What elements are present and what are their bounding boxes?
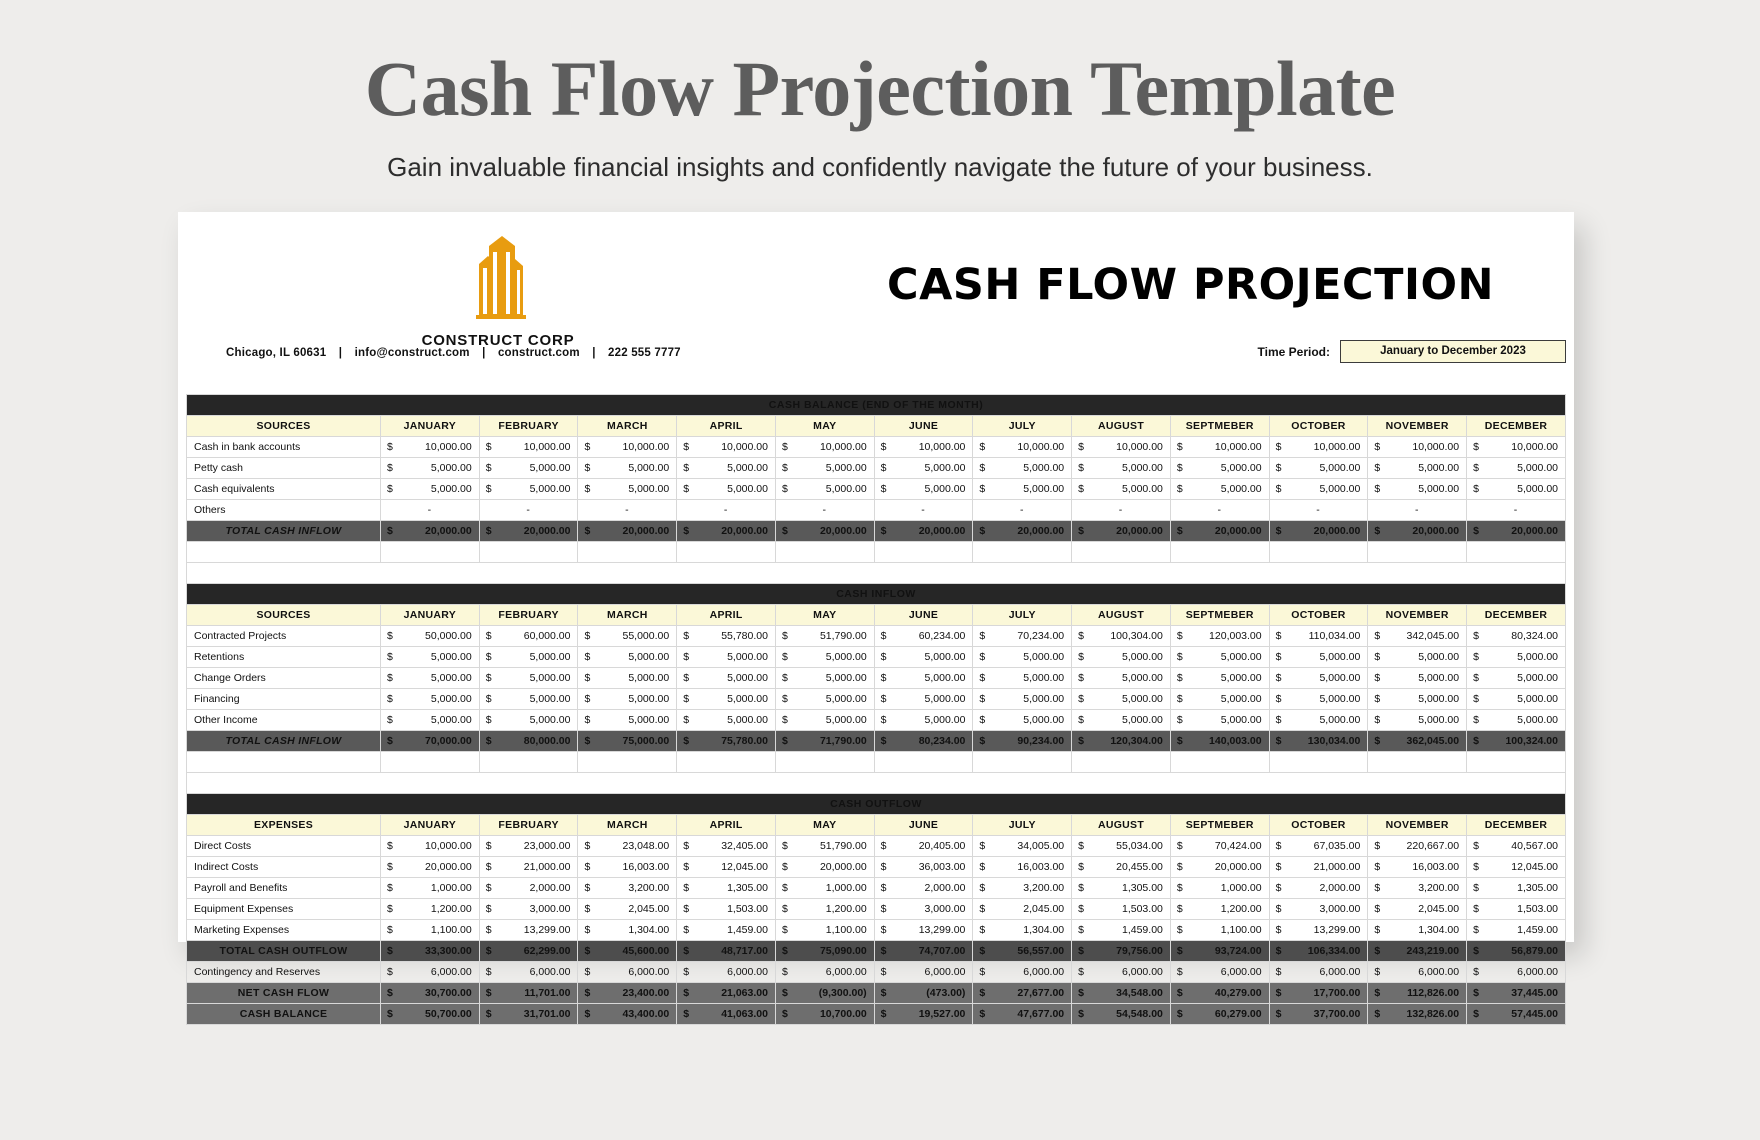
cell-value[interactable]: $5,000.00	[775, 689, 874, 710]
cell-value[interactable]: $5,000.00	[1368, 668, 1467, 689]
cell-value[interactable]: $5,000.00	[1467, 479, 1566, 500]
blank-cell[interactable]	[578, 542, 677, 563]
cell-value[interactable]: $110,034.00	[1269, 626, 1368, 647]
cell-value[interactable]: $5,000.00	[578, 689, 677, 710]
cell-value[interactable]: $21,063.00	[677, 983, 776, 1004]
cell-value[interactable]: $5,000.00	[1170, 479, 1269, 500]
column-header-month-1[interactable]: FEBRUARY	[479, 416, 578, 437]
cell-value[interactable]: -	[677, 500, 776, 521]
cell-value[interactable]: $1,503.00	[1467, 899, 1566, 920]
row-label[interactable]: Marketing Expenses	[187, 920, 381, 941]
cell-value[interactable]: $5,000.00	[578, 710, 677, 731]
cell-value[interactable]: $5,000.00	[381, 710, 480, 731]
cell-value[interactable]: $20,000.00	[775, 521, 874, 542]
cell-value[interactable]: $5,000.00	[677, 710, 776, 731]
column-header-month-0[interactable]: JANUARY	[381, 605, 480, 626]
cell-value[interactable]: $5,000.00	[1368, 479, 1467, 500]
cell-value[interactable]: $10,000.00	[874, 437, 973, 458]
column-header-month-3[interactable]: APRIL	[677, 416, 776, 437]
cell-value[interactable]: $5,000.00	[1269, 479, 1368, 500]
cell-value[interactable]: $40,279.00	[1170, 983, 1269, 1004]
row-label[interactable]: Payroll and Benefits	[187, 878, 381, 899]
column-header-month-3[interactable]: APRIL	[677, 815, 776, 836]
column-header-month-6[interactable]: JULY	[973, 416, 1072, 437]
cell-value[interactable]: $6,000.00	[479, 962, 578, 983]
column-header-month-5[interactable]: JUNE	[874, 605, 973, 626]
cell-value[interactable]: $5,000.00	[677, 458, 776, 479]
blank-cell[interactable]	[381, 542, 480, 563]
cell-value[interactable]: $5,000.00	[1467, 458, 1566, 479]
blank-cell[interactable]	[677, 752, 776, 773]
blank-cell[interactable]	[1467, 752, 1566, 773]
row-label[interactable]: Others	[187, 500, 381, 521]
column-header-month-8[interactable]: SEPTMEBER	[1170, 815, 1269, 836]
row-label[interactable]: Retentions	[187, 647, 381, 668]
cell-value[interactable]: $93,724.00	[1170, 941, 1269, 962]
cell-value[interactable]: $2,045.00	[1368, 899, 1467, 920]
column-header-month-10[interactable]: NOVEMBER	[1368, 416, 1467, 437]
cell-value[interactable]: -	[1269, 500, 1368, 521]
cell-value[interactable]: $6,000.00	[677, 962, 776, 983]
cell-value[interactable]: $5,000.00	[1170, 710, 1269, 731]
cell-value[interactable]: $5,000.00	[677, 479, 776, 500]
column-header-month-2[interactable]: MARCH	[578, 605, 677, 626]
cell-value[interactable]: $120,003.00	[1170, 626, 1269, 647]
cell-value[interactable]: $5,000.00	[1072, 458, 1171, 479]
cell-value[interactable]: $10,000.00	[1467, 437, 1566, 458]
cell-value[interactable]: $90,234.00	[973, 731, 1072, 752]
cell-value[interactable]: $70,234.00	[973, 626, 1072, 647]
cell-value[interactable]: $5,000.00	[1072, 710, 1171, 731]
column-header-month-0[interactable]: JANUARY	[381, 815, 480, 836]
cell-value[interactable]: $5,000.00	[874, 689, 973, 710]
cell-value[interactable]: $5,000.00	[479, 647, 578, 668]
cell-value[interactable]: $5,000.00	[1072, 668, 1171, 689]
blank-cell[interactable]	[1269, 752, 1368, 773]
cell-value[interactable]: $3,000.00	[1269, 899, 1368, 920]
cell-value[interactable]: $34,548.00	[1072, 983, 1171, 1004]
cell-value[interactable]: $20,000.00	[1170, 521, 1269, 542]
cell-value[interactable]: -	[973, 500, 1072, 521]
cell-value[interactable]: $5,000.00	[1368, 689, 1467, 710]
column-header-month-1[interactable]: FEBRUARY	[479, 605, 578, 626]
cell-value[interactable]: $5,000.00	[578, 668, 677, 689]
cell-value[interactable]: $12,045.00	[1467, 857, 1566, 878]
cell-value[interactable]: $32,405.00	[677, 836, 776, 857]
cell-value[interactable]: $5,000.00	[677, 647, 776, 668]
cell-value[interactable]: $20,405.00	[874, 836, 973, 857]
blank-cell[interactable]	[479, 542, 578, 563]
cell-value[interactable]: $5,000.00	[479, 479, 578, 500]
row-label[interactable]: Contingency and Reserves	[187, 962, 381, 983]
column-header-month-4[interactable]: MAY	[775, 815, 874, 836]
cell-value[interactable]: $47,677.00	[973, 1004, 1072, 1025]
cell-value[interactable]: $51,790.00	[775, 836, 874, 857]
cell-value[interactable]: $1,305.00	[1072, 878, 1171, 899]
cell-value[interactable]: $71,790.00	[775, 731, 874, 752]
cell-value[interactable]: $74,707.00	[874, 941, 973, 962]
cell-value[interactable]: $33,300.00	[381, 941, 480, 962]
column-header-month-4[interactable]: MAY	[775, 605, 874, 626]
cell-value[interactable]: $10,000.00	[973, 437, 1072, 458]
cell-value[interactable]: $5,000.00	[775, 458, 874, 479]
cell-value[interactable]: $10,700.00	[775, 1004, 874, 1025]
cell-value[interactable]: $10,000.00	[578, 437, 677, 458]
row-label[interactable]: Financing	[187, 689, 381, 710]
column-header-month-11[interactable]: DECEMBER	[1467, 605, 1566, 626]
cell-value[interactable]: $48,717.00	[677, 941, 776, 962]
cell-value[interactable]: $5,000.00	[1269, 689, 1368, 710]
row-label[interactable]: TOTAL CASH INFLOW	[187, 731, 381, 752]
cell-value[interactable]: $5,000.00	[381, 479, 480, 500]
blank-cell[interactable]	[1269, 542, 1368, 563]
cell-value[interactable]: $6,000.00	[1368, 962, 1467, 983]
cell-value[interactable]: $60,000.00	[479, 626, 578, 647]
cell-value[interactable]: $5,000.00	[973, 689, 1072, 710]
cell-value[interactable]: $16,003.00	[578, 857, 677, 878]
column-header-label[interactable]: SOURCES	[187, 605, 381, 626]
cell-value[interactable]: $37,700.00	[1269, 1004, 1368, 1025]
blank-cell[interactable]	[1368, 542, 1467, 563]
cell-value[interactable]: $100,304.00	[1072, 626, 1171, 647]
cell-value[interactable]: $75,090.00	[775, 941, 874, 962]
cell-value[interactable]: $51,790.00	[775, 626, 874, 647]
cell-value[interactable]: $27,677.00	[973, 983, 1072, 1004]
cell-value[interactable]: $3,200.00	[1368, 878, 1467, 899]
cell-value[interactable]: $55,000.00	[578, 626, 677, 647]
cell-value[interactable]: $23,000.00	[479, 836, 578, 857]
cell-value[interactable]: $6,000.00	[1269, 962, 1368, 983]
cell-value[interactable]: $20,000.00	[1170, 857, 1269, 878]
cell-value[interactable]: $54,548.00	[1072, 1004, 1171, 1025]
cell-value[interactable]: $19,527.00	[874, 1004, 973, 1025]
cell-value[interactable]: $10,000.00	[677, 437, 776, 458]
row-label[interactable]: Equipment Expenses	[187, 899, 381, 920]
column-header-month-2[interactable]: MARCH	[578, 815, 677, 836]
cell-value[interactable]: $2,000.00	[479, 878, 578, 899]
cell-value[interactable]: $20,000.00	[578, 521, 677, 542]
cell-value[interactable]: $13,299.00	[874, 920, 973, 941]
blank-cell[interactable]	[1170, 752, 1269, 773]
cell-value[interactable]: -	[1072, 500, 1171, 521]
cell-value[interactable]: $5,000.00	[1170, 689, 1269, 710]
cell-value[interactable]: $5,000.00	[578, 458, 677, 479]
cell-value[interactable]: $21,000.00	[1269, 857, 1368, 878]
cell-value[interactable]: $(473.00)	[874, 983, 973, 1004]
cell-value[interactable]: $20,000.00	[479, 521, 578, 542]
row-label[interactable]: Cash equivalents	[187, 479, 381, 500]
cell-value[interactable]: -	[578, 500, 677, 521]
cell-value[interactable]: $2,000.00	[1269, 878, 1368, 899]
cell-value[interactable]: $1,100.00	[775, 920, 874, 941]
cell-value[interactable]: $20,000.00	[1269, 521, 1368, 542]
cell-value[interactable]: $23,400.00	[578, 983, 677, 1004]
cell-value[interactable]: $20,000.00	[381, 857, 480, 878]
blank-cell[interactable]	[677, 542, 776, 563]
cell-value[interactable]: $5,000.00	[1170, 668, 1269, 689]
cell-value[interactable]: $10,000.00	[381, 836, 480, 857]
cell-value[interactable]: $6,000.00	[874, 962, 973, 983]
column-header-month-8[interactable]: SEPTMEBER	[1170, 416, 1269, 437]
blank-cell[interactable]	[874, 752, 973, 773]
cell-value[interactable]: $6,000.00	[1072, 962, 1171, 983]
cell-value[interactable]: $1,304.00	[973, 920, 1072, 941]
cell-value[interactable]: $6,000.00	[1467, 962, 1566, 983]
column-header-month-7[interactable]: AUGUST	[1072, 416, 1171, 437]
cell-value[interactable]: $11,701.00	[479, 983, 578, 1004]
cell-value[interactable]: $20,000.00	[1467, 521, 1566, 542]
cell-value[interactable]: -	[1170, 500, 1269, 521]
cell-value[interactable]: $80,324.00	[1467, 626, 1566, 647]
cell-value[interactable]: $50,700.00	[381, 1004, 480, 1025]
row-label[interactable]: Direct Costs	[187, 836, 381, 857]
cell-value[interactable]: $5,000.00	[1072, 479, 1171, 500]
blank-cell[interactable]	[1072, 752, 1171, 773]
cell-value[interactable]: $70,000.00	[381, 731, 480, 752]
cell-value[interactable]: $5,000.00	[775, 668, 874, 689]
cell-value[interactable]: $5,000.00	[1368, 458, 1467, 479]
cell-value[interactable]: -	[1467, 500, 1566, 521]
cell-value[interactable]: $70,424.00	[1170, 836, 1269, 857]
cell-value[interactable]: $62,299.00	[479, 941, 578, 962]
column-header-month-1[interactable]: FEBRUARY	[479, 815, 578, 836]
cell-value[interactable]: $5,000.00	[1467, 689, 1566, 710]
blank-cell[interactable]	[479, 752, 578, 773]
cell-value[interactable]: $56,557.00	[973, 941, 1072, 962]
blank-cell[interactable]	[187, 752, 381, 773]
cell-value[interactable]: $3,200.00	[578, 878, 677, 899]
cell-value[interactable]: $10,000.00	[1368, 437, 1467, 458]
row-label[interactable]: CASH BALANCE	[187, 1004, 381, 1025]
cell-value[interactable]: $1,200.00	[381, 899, 480, 920]
cell-value[interactable]: $5,000.00	[874, 479, 973, 500]
cell-value[interactable]: $5,000.00	[973, 647, 1072, 668]
column-header-month-6[interactable]: JULY	[973, 815, 1072, 836]
blank-cell[interactable]	[973, 752, 1072, 773]
cell-value[interactable]: $5,000.00	[1368, 710, 1467, 731]
cell-value[interactable]: $3,000.00	[874, 899, 973, 920]
column-header-month-6[interactable]: JULY	[973, 605, 1072, 626]
cell-value[interactable]: $5,000.00	[1467, 710, 1566, 731]
blank-cell[interactable]	[381, 752, 480, 773]
cell-value[interactable]: $6,000.00	[381, 962, 480, 983]
cell-value[interactable]: $5,000.00	[973, 458, 1072, 479]
cell-value[interactable]: $5,000.00	[1467, 647, 1566, 668]
row-label[interactable]: Petty cash	[187, 458, 381, 479]
cell-value[interactable]: $5,000.00	[1368, 647, 1467, 668]
cell-value[interactable]: $5,000.00	[1269, 458, 1368, 479]
blank-cell[interactable]	[1467, 542, 1566, 563]
cell-value[interactable]: $6,000.00	[973, 962, 1072, 983]
cell-value[interactable]: $2,000.00	[874, 878, 973, 899]
row-label[interactable]: NET CASH FLOW	[187, 983, 381, 1004]
cell-value[interactable]: $34,005.00	[973, 836, 1072, 857]
cell-value[interactable]: $6,000.00	[775, 962, 874, 983]
cell-value[interactable]: $60,279.00	[1170, 1004, 1269, 1025]
row-label[interactable]: Other Income	[187, 710, 381, 731]
cell-value[interactable]: $1,503.00	[1072, 899, 1171, 920]
cell-value[interactable]: $5,000.00	[874, 458, 973, 479]
cell-value[interactable]: $1,305.00	[677, 878, 776, 899]
cell-value[interactable]: $41,063.00	[677, 1004, 776, 1025]
cell-value[interactable]: $67,035.00	[1269, 836, 1368, 857]
cell-value[interactable]: $3,200.00	[973, 878, 1072, 899]
blank-cell[interactable]	[578, 752, 677, 773]
cell-value[interactable]: $80,234.00	[874, 731, 973, 752]
row-label[interactable]: Cash in bank accounts	[187, 437, 381, 458]
row-label[interactable]: Contracted Projects	[187, 626, 381, 647]
cell-value[interactable]: $5,000.00	[479, 689, 578, 710]
cell-value[interactable]: $5,000.00	[973, 479, 1072, 500]
cell-value[interactable]: $1,304.00	[578, 920, 677, 941]
cell-value[interactable]: $100,324.00	[1467, 731, 1566, 752]
cell-value[interactable]: $5,000.00	[1269, 710, 1368, 731]
cell-value[interactable]: $5,000.00	[874, 647, 973, 668]
cell-value[interactable]: $2,045.00	[578, 899, 677, 920]
cell-value[interactable]: $(9,300.00)	[775, 983, 874, 1004]
cell-value[interactable]: $1,100.00	[1170, 920, 1269, 941]
cell-value[interactable]: $1,000.00	[775, 878, 874, 899]
cell-value[interactable]: $106,334.00	[1269, 941, 1368, 962]
cell-value[interactable]: $5,000.00	[677, 689, 776, 710]
row-label[interactable]: Indirect Costs	[187, 857, 381, 878]
cell-value[interactable]: $112,826.00	[1368, 983, 1467, 1004]
cell-value[interactable]: $5,000.00	[775, 710, 874, 731]
cell-value[interactable]: $10,000.00	[1269, 437, 1368, 458]
cell-value[interactable]: $1,459.00	[677, 920, 776, 941]
time-period-value[interactable]: January to December 2023	[1340, 340, 1566, 363]
column-header-month-11[interactable]: DECEMBER	[1467, 416, 1566, 437]
cell-value[interactable]: $5,000.00	[874, 710, 973, 731]
column-header-label[interactable]: EXPENSES	[187, 815, 381, 836]
column-header-month-10[interactable]: NOVEMBER	[1368, 605, 1467, 626]
cell-value[interactable]: $342,045.00	[1368, 626, 1467, 647]
cell-value[interactable]: $5,000.00	[578, 479, 677, 500]
cell-value[interactable]: $132,826.00	[1368, 1004, 1467, 1025]
column-header-month-5[interactable]: JUNE	[874, 815, 973, 836]
cell-value[interactable]: $5,000.00	[381, 647, 480, 668]
cell-value[interactable]: $23,048.00	[578, 836, 677, 857]
blank-cell[interactable]	[187, 542, 381, 563]
cell-value[interactable]: $10,000.00	[1072, 437, 1171, 458]
cell-value[interactable]: $16,003.00	[973, 857, 1072, 878]
cell-value[interactable]: $75,780.00	[677, 731, 776, 752]
column-header-month-8[interactable]: SEPTMEBER	[1170, 605, 1269, 626]
cell-value[interactable]: $40,567.00	[1467, 836, 1566, 857]
cell-value[interactable]: $243,219.00	[1368, 941, 1467, 962]
cell-value[interactable]: $17,700.00	[1269, 983, 1368, 1004]
cell-value[interactable]: $20,000.00	[1368, 521, 1467, 542]
column-header-month-0[interactable]: JANUARY	[381, 416, 480, 437]
column-header-month-3[interactable]: APRIL	[677, 605, 776, 626]
cell-value[interactable]: $20,000.00	[1072, 521, 1171, 542]
column-header-month-9[interactable]: OCTOBER	[1269, 416, 1368, 437]
cell-value[interactable]: $5,000.00	[1072, 689, 1171, 710]
column-header-month-10[interactable]: NOVEMBER	[1368, 815, 1467, 836]
row-label[interactable]: TOTAL CASH OUTFLOW	[187, 941, 381, 962]
cell-value[interactable]: $5,000.00	[479, 710, 578, 731]
column-header-month-5[interactable]: JUNE	[874, 416, 973, 437]
cell-value[interactable]: -	[874, 500, 973, 521]
cell-value[interactable]: $5,000.00	[973, 710, 1072, 731]
row-label[interactable]: TOTAL CASH INFLOW	[187, 521, 381, 542]
cell-value[interactable]: $57,445.00	[1467, 1004, 1566, 1025]
cell-value[interactable]: $30,700.00	[381, 983, 480, 1004]
cell-value[interactable]: $45,600.00	[578, 941, 677, 962]
cell-value[interactable]: $79,756.00	[1072, 941, 1171, 962]
cell-value[interactable]: $60,234.00	[874, 626, 973, 647]
cell-value[interactable]: $362,045.00	[1368, 731, 1467, 752]
blank-cell[interactable]	[775, 542, 874, 563]
column-header-month-2[interactable]: MARCH	[578, 416, 677, 437]
cell-value[interactable]: $10,000.00	[775, 437, 874, 458]
cell-value[interactable]: $1,459.00	[1467, 920, 1566, 941]
cell-value[interactable]: $6,000.00	[578, 962, 677, 983]
cell-value[interactable]: $5,000.00	[381, 458, 480, 479]
cell-value[interactable]: $5,000.00	[677, 668, 776, 689]
cell-value[interactable]: $1,459.00	[1072, 920, 1171, 941]
cell-value[interactable]: -	[381, 500, 480, 521]
column-header-label[interactable]: SOURCES	[187, 416, 381, 437]
cell-value[interactable]: $2,045.00	[973, 899, 1072, 920]
cell-value[interactable]: $140,003.00	[1170, 731, 1269, 752]
cell-value[interactable]: $5,000.00	[1269, 668, 1368, 689]
cell-value[interactable]: -	[1368, 500, 1467, 521]
cell-value[interactable]: $1,200.00	[1170, 899, 1269, 920]
cell-value[interactable]: $13,299.00	[1269, 920, 1368, 941]
cell-value[interactable]: $220,667.00	[1368, 836, 1467, 857]
cell-value[interactable]: $5,000.00	[381, 668, 480, 689]
blank-cell[interactable]	[1170, 542, 1269, 563]
cell-value[interactable]: $1,000.00	[381, 878, 480, 899]
column-header-month-7[interactable]: AUGUST	[1072, 605, 1171, 626]
cell-value[interactable]: $130,034.00	[1269, 731, 1368, 752]
cell-value[interactable]: $5,000.00	[381, 689, 480, 710]
cell-value[interactable]: $20,455.00	[1072, 857, 1171, 878]
cell-value[interactable]: $5,000.00	[1170, 647, 1269, 668]
cell-value[interactable]: $10,000.00	[479, 437, 578, 458]
cell-value[interactable]: $12,045.00	[677, 857, 776, 878]
cell-value[interactable]: $20,000.00	[381, 521, 480, 542]
cell-value[interactable]: $20,000.00	[775, 857, 874, 878]
cell-value[interactable]: $1,100.00	[381, 920, 480, 941]
cell-value[interactable]: $55,780.00	[677, 626, 776, 647]
cell-value[interactable]: $43,400.00	[578, 1004, 677, 1025]
cell-value[interactable]: $36,003.00	[874, 857, 973, 878]
cell-value[interactable]: $1,304.00	[1368, 920, 1467, 941]
cell-value[interactable]: $10,000.00	[381, 437, 480, 458]
cell-value[interactable]: $50,000.00	[381, 626, 480, 647]
column-header-month-7[interactable]: AUGUST	[1072, 815, 1171, 836]
cell-value[interactable]: $1,000.00	[1170, 878, 1269, 899]
cell-value[interactable]: $13,299.00	[479, 920, 578, 941]
cell-value[interactable]: $20,000.00	[973, 521, 1072, 542]
cell-value[interactable]: $20,000.00	[874, 521, 973, 542]
cell-value[interactable]: $20,000.00	[677, 521, 776, 542]
cell-value[interactable]: $5,000.00	[1467, 668, 1566, 689]
cell-value[interactable]: $56,879.00	[1467, 941, 1566, 962]
cell-value[interactable]: $5,000.00	[1269, 647, 1368, 668]
cell-value[interactable]: $5,000.00	[1072, 647, 1171, 668]
cell-value[interactable]: $31,701.00	[479, 1004, 578, 1025]
cell-value[interactable]: $37,445.00	[1467, 983, 1566, 1004]
cell-value[interactable]: $5,000.00	[973, 668, 1072, 689]
blank-cell[interactable]	[973, 542, 1072, 563]
blank-cell[interactable]	[1072, 542, 1171, 563]
cell-value[interactable]: $5,000.00	[775, 647, 874, 668]
row-label[interactable]: Change Orders	[187, 668, 381, 689]
cell-value[interactable]: $5,000.00	[874, 668, 973, 689]
